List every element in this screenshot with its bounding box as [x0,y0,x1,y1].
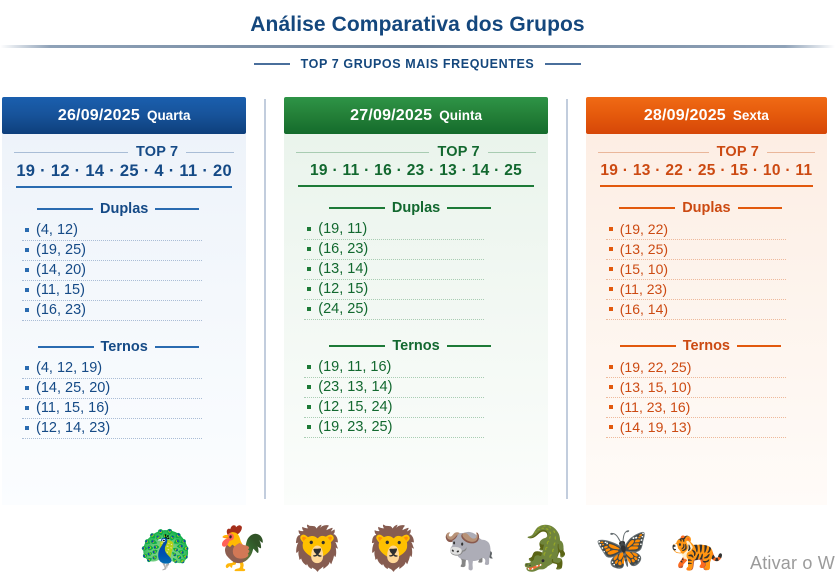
peacock-icon: 🦚 [137,528,195,571]
ternos-rule-left [620,345,676,347]
top7-rule-right [186,152,234,153]
list-item[interactable]: (19, 22) [606,220,786,240]
duplas-label: Duplas [392,200,440,216]
ternos-list: (4, 12, 19) (14, 25, 20) (11, 15, 16) (1… [14,359,234,439]
ternos-heading: Ternos [14,339,234,355]
page-title: Análise Comparativa dos Grupos [0,10,835,40]
terno-value: (19, 22, 25) [620,359,692,375]
top7-rule-left [598,152,709,153]
card-body-quinta: TOP 7 19 · 11 · 16 · 23 · 13 · 14 · 25 D… [284,134,548,505]
duplas-rule-left [37,208,93,210]
top7-underline [16,186,232,188]
list-item[interactable]: (16, 23) [304,240,484,260]
list-item[interactable]: (19, 22, 25) [606,358,786,378]
list-item[interactable]: (12, 15) [304,280,484,300]
dupla-value: (13, 25) [620,241,668,257]
bullet-icon [609,425,613,429]
terno-value: (19, 23, 25) [318,419,392,435]
ternos-heading: Ternos [296,338,536,354]
top7-heading: TOP 7 [14,144,234,160]
duplas-section: Duplas (4, 12) (19, 25) (14, 20) [14,201,234,321]
list-item[interactable]: (14, 25, 20) [22,379,202,399]
bullet-icon [307,227,311,231]
group-card-sexta[interactable]: 28/09/2025 Sexta TOP 7 19 · 13 · 22 · 25… [578,97,835,505]
bullet-icon [307,365,311,369]
list-item[interactable]: (11, 23) [606,280,786,300]
dupla-value: (11, 23) [620,281,667,297]
ox-icon: 🐃 [441,528,499,571]
duplas-heading: Duplas [14,201,234,217]
duplas-list: (19, 22) (13, 25) (15, 10) (11, 23) [598,220,815,320]
bullet-icon [609,227,613,231]
bullet-icon [609,247,613,251]
bullet-icon [609,307,613,311]
list-item[interactable]: (19, 23, 25) [304,418,484,438]
bullet-icon [609,287,613,291]
card-header-quinta: 27/09/2025 Quinta [284,97,548,134]
card-date: 26/09/2025 [58,107,140,125]
rooster-icon: 🐓 [213,528,271,571]
list-item[interactable]: (19, 25) [22,241,202,261]
card-weekday: Quinta [439,108,482,123]
dupla-value: (12, 15) [318,281,368,297]
list-item[interactable]: (19, 11) [304,220,484,240]
bullet-icon [25,248,29,252]
top7-heading: TOP 7 [598,144,815,160]
list-item[interactable]: (12, 15, 24) [304,398,484,418]
bullet-icon [307,307,311,311]
list-item[interactable]: (19, 11, 16) [304,358,484,378]
windows-activation-watermark: Ativar o W [750,553,835,574]
bullet-icon [307,385,311,389]
terno-value: (13, 15, 10) [620,379,692,395]
ternos-section: Ternos (4, 12, 19) (14, 25, 20) (11, 15, [14,339,234,439]
card-header-sexta: 28/09/2025 Sexta [586,97,827,134]
duplas-list: (19, 11) (16, 23) (13, 14) (12, 15) [296,220,536,320]
ternos-section: Ternos (19, 22, 25) (13, 15, 10) (11, 23… [598,338,815,438]
crocodile-icon: 🐊 [517,528,575,571]
top7-underline [600,185,813,187]
lion-full-icon: 🦁 [365,528,423,571]
card-weekday: Sexta [733,108,769,123]
bullet-icon [307,267,311,271]
duplas-rule-left [619,207,675,209]
duplas-rule-right [155,208,199,210]
ternos-list: (19, 22, 25) (13, 15, 10) (11, 23, 16) (… [598,358,815,438]
card-body-sexta: TOP 7 19 · 13 · 22 · 25 · 15 · 10 · 11 D… [586,134,827,505]
bullet-icon [307,425,311,429]
dupla-value: (19, 22) [620,221,668,237]
top7-rule-left [14,152,128,153]
list-item[interactable]: (4, 12) [22,221,202,241]
top7-numbers: 19 · 12 · 14 · 25 · 4 · 11 · 20 [14,162,234,181]
ternos-heading: Ternos [598,338,815,354]
top7-rule-right [488,152,536,153]
group-card-quarta[interactable]: 26/09/2025 Quarta TOP 7 19 · 12 · 14 · 2… [0,97,254,505]
duplas-rule-right [447,207,491,209]
bullet-icon [307,247,311,251]
list-item[interactable]: (11, 15) [22,281,202,301]
terno-value: (4, 12, 19) [36,360,102,376]
bullet-icon [25,288,29,292]
dupla-value: (4, 12) [36,222,78,238]
top7-numbers: 19 · 11 · 16 · 23 · 13 · 14 · 25 [296,162,536,180]
duplas-list: (4, 12) (19, 25) (14, 20) (11, 15) [14,221,234,321]
duplas-rule-left [329,207,385,209]
terno-value: (11, 23, 16) [620,399,691,415]
ternos-label: Ternos [683,338,730,354]
terno-value: (12, 14, 23) [36,420,110,436]
ternos-rule-left [329,345,385,347]
list-item[interactable]: (15, 10) [606,260,786,280]
ternos-section: Ternos (19, 11, 16) (23, 13, 14) (12, 15… [296,338,536,438]
duplas-label: Duplas [682,200,730,216]
duplas-section: Duplas (19, 11) (16, 23) (13, 14) [296,200,536,320]
dupla-value: (24, 25) [318,301,368,317]
top7-rule-left [296,152,429,153]
bullet-icon [609,405,613,409]
bullet-icon [25,268,29,272]
list-item[interactable]: (14, 20) [22,261,202,281]
animal-icons-strip: 🦚 🐓 🦁 🦁 🐃 🐊 🦋 🐅 [0,512,835,586]
title-divider [0,45,835,48]
bullet-icon [25,366,29,370]
terno-value: (11, 15, 16) [36,400,109,416]
card-header-quarta: 26/09/2025 Quarta [2,97,246,134]
top7-heading: TOP 7 [296,144,536,160]
list-item[interactable]: (11, 23, 16) [606,398,786,418]
dupla-value: (19, 25) [36,242,86,258]
bullet-icon [307,405,311,409]
groups-comparison-row: 26/09/2025 Quarta TOP 7 19 · 12 · 14 · 2… [0,97,835,505]
card-date: 27/09/2025 [350,107,432,125]
list-item[interactable]: (13, 14) [304,260,484,280]
list-item[interactable]: (12, 14, 23) [22,419,202,439]
page-subtitle: TOP 7 GRUPOS MAIS FREQUENTES [301,57,535,71]
list-item[interactable]: (14, 19, 13) [606,418,786,438]
dupla-value: (16, 14) [620,301,668,317]
dupla-value: (13, 14) [318,261,368,277]
terno-value: (23, 13, 14) [318,379,392,395]
dupla-value: (19, 11) [318,221,367,237]
list-item[interactable]: (4, 12, 19) [22,359,202,379]
top7-label: TOP 7 [717,144,759,160]
bullet-icon [307,287,311,291]
card-divider-1 [264,99,266,499]
dupla-value: (15, 10) [620,261,668,277]
card-divider-2 [566,99,568,499]
top7-label: TOP 7 [136,144,178,160]
terno-value: (14, 19, 13) [620,419,692,435]
duplas-rule-right [738,207,782,209]
subtitle-rule-right [545,63,581,65]
bullet-icon [25,308,29,312]
bullet-icon [25,386,29,390]
tiger-icon: 🐅 [669,528,727,571]
dupla-value: (16, 23) [36,302,86,318]
duplas-heading: Duplas [296,200,536,216]
dupla-value: (11, 15) [36,282,85,298]
terno-value: (14, 25, 20) [36,380,110,396]
bullet-icon [25,228,29,232]
ternos-label: Ternos [101,339,148,355]
ternos-rule-left [38,346,94,348]
list-item[interactable]: (13, 25) [606,240,786,260]
ternos-label: Ternos [392,338,439,354]
top7-numbers: 19 · 13 · 22 · 25 · 15 · 10 · 11 [598,162,815,180]
lion-icon: 🦁 [289,528,347,571]
ternos-rule-right [155,346,199,348]
subtitle-rule-left [254,63,290,65]
subtitle-row: TOP 7 GRUPOS MAIS FREQUENTES [0,57,835,71]
list-item[interactable]: (11, 15, 16) [22,399,202,419]
list-item[interactable]: (16, 14) [606,300,786,320]
ternos-rule-right [737,345,781,347]
bullet-icon [609,267,613,271]
top7-underline [298,185,534,187]
terno-value: (19, 11, 16) [318,359,391,375]
duplas-heading: Duplas [598,200,815,216]
bullet-icon [25,406,29,410]
card-date: 28/09/2025 [644,107,726,125]
page-header: Análise Comparativa dos Grupos TOP 7 GRU… [0,0,835,71]
card-weekday: Quarta [147,108,191,123]
top7-rule-right [767,152,815,153]
duplas-label: Duplas [100,201,148,217]
butterfly-icon: 🦋 [593,528,651,571]
dupla-value: (14, 20) [36,262,86,278]
dupla-value: (16, 23) [318,241,368,257]
top7-label: TOP 7 [437,144,479,160]
bullet-icon [25,426,29,430]
card-body-quarta: TOP 7 19 · 12 · 14 · 25 · 4 · 11 · 20 Du… [2,134,246,505]
ternos-list: (19, 11, 16) (23, 13, 14) (12, 15, 24) (… [296,358,536,438]
bullet-icon [609,365,613,369]
list-item[interactable]: (13, 15, 10) [606,378,786,398]
bullet-icon [609,385,613,389]
list-item[interactable]: (24, 25) [304,300,484,320]
group-card-quinta[interactable]: 27/09/2025 Quinta TOP 7 19 · 11 · 16 · 2… [276,97,556,505]
terno-value: (12, 15, 24) [318,399,392,415]
ternos-rule-right [447,345,491,347]
list-item[interactable]: (16, 23) [22,301,202,321]
list-item[interactable]: (23, 13, 14) [304,378,484,398]
duplas-section: Duplas (19, 22) (13, 25) (15, 10) [598,200,815,320]
